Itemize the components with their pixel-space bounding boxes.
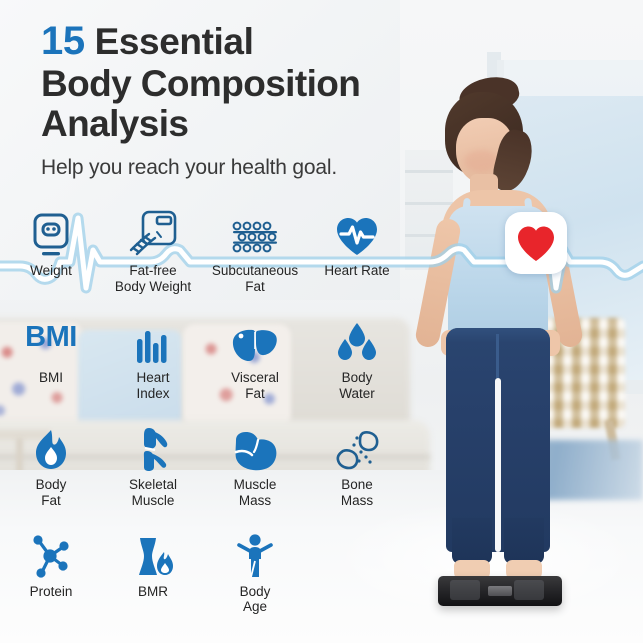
metric-muscle-mass: Muscle Mass: [204, 416, 306, 509]
headline-line-1: 15 Essential: [41, 20, 511, 62]
headline-count: 15: [41, 19, 85, 63]
metric-skeletal-muscle: Skeletal Muscle: [102, 416, 204, 509]
metric-heart-rate: Heart Rate: [306, 202, 408, 295]
metrics-row: Protein BMR: [0, 523, 410, 616]
metric-label: Subcutaneous Fat: [212, 263, 298, 295]
metrics-row: BMI BMI: [0, 309, 410, 402]
bmi-icon-text: BMI: [25, 309, 77, 365]
metric-label: Body Fat: [36, 477, 67, 509]
scale-icon: [30, 202, 72, 258]
headline-line-1-rest: Essential: [95, 21, 254, 62]
scale-electrode-pad: [514, 580, 544, 600]
molecule-icon: [29, 523, 73, 579]
headline-line-2: Body Composition Analysis: [41, 64, 511, 144]
torso-flame-icon: [131, 523, 175, 579]
metric-label: Body Water: [339, 370, 375, 402]
metrics-row: Weight: [0, 202, 410, 295]
leg-gap: [495, 378, 501, 552]
jeans-fly-seam: [496, 334, 499, 378]
metrics-grid: Weight: [0, 196, 410, 615]
metric-label: Heart Rate: [324, 263, 389, 279]
water-drops-icon: [335, 309, 379, 365]
liver-icon: [231, 309, 279, 365]
metric-label: Body Age: [240, 584, 271, 616]
metric-label: Bone Mass: [341, 477, 373, 509]
metric-subcutaneous-fat: Subcutaneous Fat: [204, 202, 306, 295]
standing-person-icon: [235, 523, 275, 579]
metric-label: Visceral Fat: [231, 370, 279, 402]
fat-cells-icon: [230, 202, 280, 258]
metric-body-age: Body Age: [204, 523, 306, 616]
knee-joint-icon: [133, 416, 173, 472]
metrics-row: Body Fat: [0, 416, 410, 509]
metric-label: Fat-free Body Weight: [115, 263, 191, 295]
flexed-biceps-icon: [230, 416, 280, 472]
metric-label: Protein: [30, 584, 73, 600]
metric-label: Skeletal Muscle: [129, 477, 177, 509]
metric-fat-free-body-weight: Fat-free Body Weight: [102, 202, 204, 295]
heart-pulse-icon: [334, 202, 380, 258]
red-heart-icon: [516, 224, 556, 264]
metric-label: BMR: [138, 584, 168, 600]
bmi-text-icon: BMI: [25, 309, 77, 365]
metric-bone-mass: Bone Mass: [306, 416, 408, 509]
metric-bmr: BMR: [102, 523, 204, 616]
metric-label: BMI: [39, 370, 63, 386]
metric-heart-index: Heart Index: [102, 309, 204, 402]
metric-weight: Weight: [0, 202, 102, 295]
metric-protein: Protein: [0, 523, 102, 616]
metric-body-water: Body Water: [306, 309, 408, 402]
flame-icon: [31, 416, 71, 472]
infographic-page: 15 Essential Body Composition Analysis H…: [0, 0, 643, 643]
metric-label: Heart Index: [136, 370, 169, 402]
bone-fragments-icon: [333, 416, 381, 472]
headline-subtitle: Help you reach your health goal.: [41, 156, 511, 180]
left-lower-leg: [452, 518, 492, 564]
bar-chart-icon: [135, 309, 171, 365]
metric-bmi: BMI BMI: [0, 309, 102, 402]
metric-label: Muscle Mass: [234, 477, 277, 509]
metric-body-fat: Body Fat: [0, 416, 102, 509]
metric-label: Weight: [30, 263, 72, 279]
dna-scale-icon: [127, 202, 179, 258]
scale-electrode-pad: [450, 580, 480, 600]
right-lower-leg: [504, 518, 544, 564]
scale-logo: [488, 586, 512, 596]
metric-visceral-fat: Visceral Fat: [204, 309, 306, 402]
headline-block: 15 Essential Body Composition Analysis H…: [41, 20, 511, 180]
